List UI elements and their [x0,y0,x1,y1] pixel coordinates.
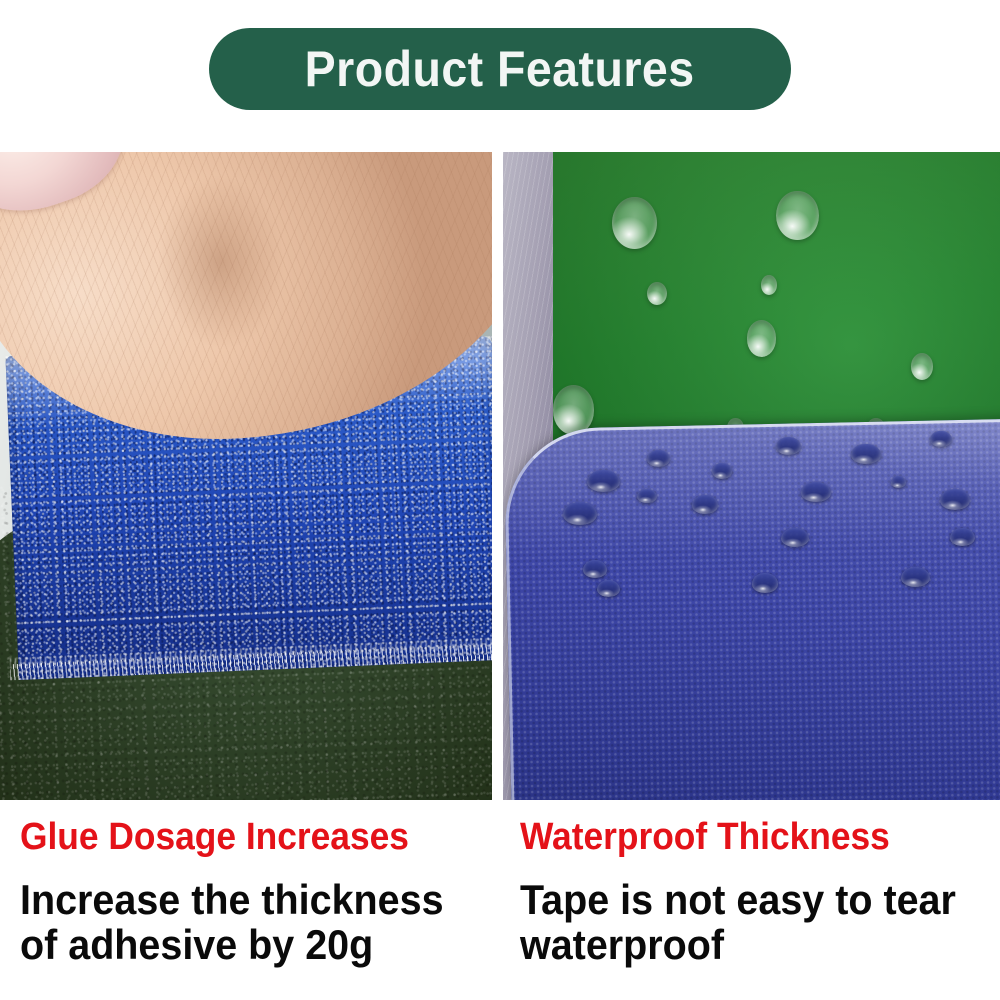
feature-body: Tape is not easy to tear waterproof [520,878,962,967]
water-droplet-on-tape [950,528,975,546]
water-droplet [747,320,777,356]
water-droplet-on-tape [901,567,931,588]
water-droplet-on-tape [801,482,831,501]
feature-body: Increase the thickness of adhesive by 20… [20,878,471,967]
feature-image-row [0,152,1000,800]
water-droplet-on-tape [647,450,670,467]
blue-waterproof-tape [504,419,1000,800]
feature-caption-glue-dosage: Glue Dosage Increases Increase the thick… [20,800,500,967]
water-droplet-on-tape [752,573,779,592]
water-droplet-on-tape [587,470,619,492]
water-droplet [612,197,657,249]
feature-captions: Glue Dosage Increases Increase the thick… [0,800,1000,1000]
page-title: Product Features [305,44,695,94]
feature-caption-waterproof-thickness: Waterproof Thickness Tape is not easy to… [520,800,990,967]
feature-heading: Glue Dosage Increases [20,818,466,856]
feature-heading: Waterproof Thickness [520,818,957,856]
water-droplet [553,385,595,434]
water-droplet-on-tape [781,528,809,547]
feature-image-glue-dosage [0,152,492,800]
water-droplet-on-tape [712,463,732,479]
header: Product Features [0,0,1000,152]
water-droplet-on-tape [776,437,801,455]
water-droplet-on-tape [851,444,881,465]
water-droplet [647,282,667,305]
water-droplet-on-tape [563,502,598,525]
thumbnail [0,152,139,232]
water-droplet [761,275,777,294]
water-droplet-on-tape [940,489,970,510]
water-droplet-on-tape [597,580,620,597]
water-droplet [776,191,818,240]
water-droplet-on-tape [891,476,906,488]
water-droplet-on-tape [583,560,608,578]
water-droplet-on-tape [637,489,657,503]
page-title-pill: Product Features [209,28,791,110]
water-droplet-on-tape [692,495,718,513]
feature-image-waterproof-thickness [503,152,1000,800]
